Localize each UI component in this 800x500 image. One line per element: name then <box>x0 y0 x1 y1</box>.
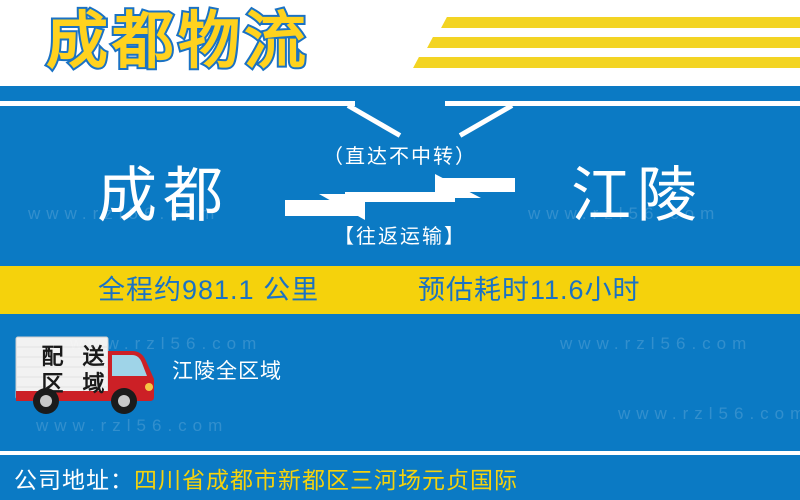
chevron-arm-left <box>347 103 401 137</box>
coverage-area-text: 江陵全区域 <box>172 355 282 385</box>
stripe-2 <box>427 37 800 48</box>
logistics-banner: 成都物流 成都 （直达不中转） <box>0 0 800 500</box>
page-title: 成都物流 <box>46 2 310 82</box>
box-char-1: 配 <box>41 346 63 368</box>
origin-city: 成都 <box>38 146 288 246</box>
address-value: 四川省成都市新都区三河场元贞国际 <box>134 467 518 493</box>
footer-address: 公司地址：四川省成都市新都区三河场元贞国际 <box>0 460 800 500</box>
banner-body: 成都 （直达不中转） 【往返运输】 江陵 全程约981.1 公里 <box>0 86 800 500</box>
round-trip-note: 【往返运输】 <box>285 222 515 252</box>
duration-text: 预估耗时11.6小时 <box>418 266 641 314</box>
watermark: www.rzl56.com <box>70 334 262 354</box>
decorative-stripes <box>400 0 800 86</box>
watermark: www.rzl56.com <box>28 204 220 224</box>
direct-service-note: （直达不中转） <box>285 142 515 172</box>
watermark: www.rzl56.com <box>528 204 720 224</box>
stripe-1 <box>441 17 800 28</box>
chevron-line-right <box>445 101 800 106</box>
destination-city: 江陵 <box>512 146 762 246</box>
stripe-3 <box>413 57 800 68</box>
chevron-line-left <box>0 101 355 106</box>
watermark: www.rzl56.com <box>36 416 228 436</box>
bidirectional-arrow-icon <box>285 174 515 220</box>
route-middle: （直达不中转） 【往返运输】 <box>285 142 515 252</box>
box-char-3: 区 <box>41 373 63 395</box>
footer-divider <box>0 451 800 455</box>
info-band: 全程约981.1 公里 预估耗时11.6小时 <box>0 266 800 314</box>
watermark: www.rzl56.com <box>618 404 800 424</box>
address-label: 公司地址： <box>14 467 134 493</box>
box-char-4: 域 <box>82 373 104 395</box>
chevron-arm-right <box>459 103 513 137</box>
distance-text: 全程约981.1 公里 <box>98 266 319 314</box>
watermark: www.rzl56.com <box>560 334 752 354</box>
chevron-down-icon <box>0 96 800 138</box>
banner-header: 成都物流 <box>0 0 800 86</box>
